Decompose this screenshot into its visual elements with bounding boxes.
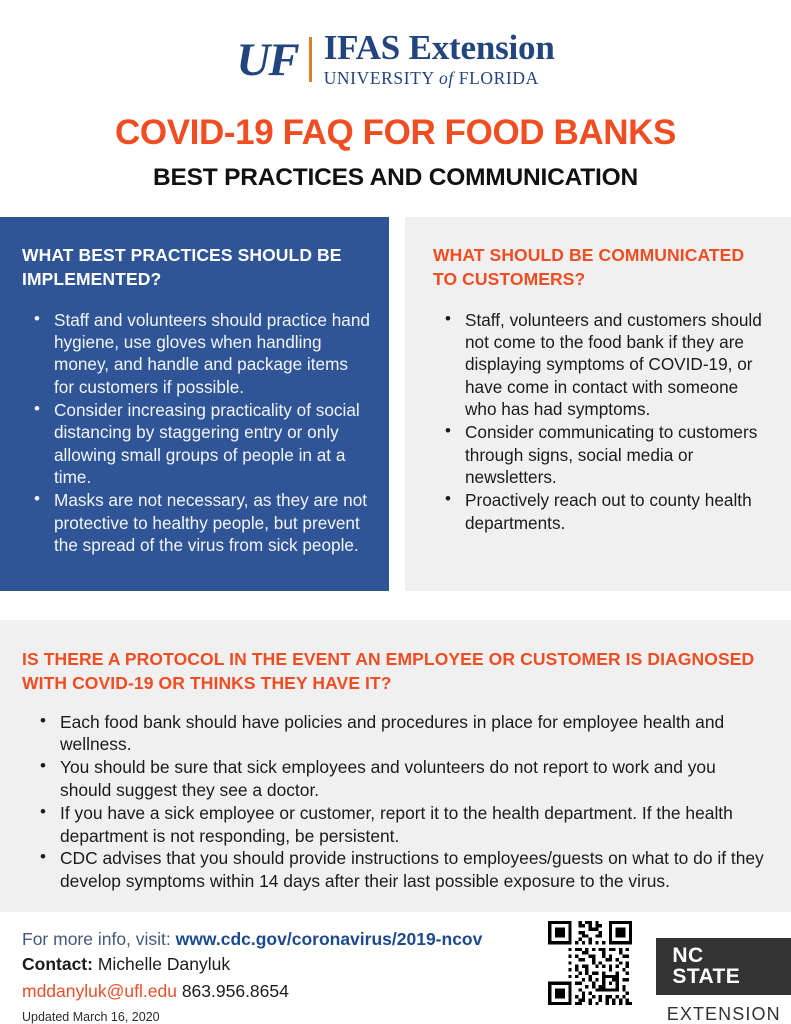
uf-monogram: UF [236, 37, 308, 84]
list-item: Consider increasing practicality of soci… [54, 399, 371, 488]
panel-protocol-list: Each food bank should have policies and … [22, 711, 765, 893]
list-item: Each food bank should have policies and … [60, 711, 765, 757]
footer-more-info-label: For more info, visit: [22, 929, 171, 949]
poster-page: UF IFAS Extension UNIVERSITY of FLORIDA … [0, 0, 791, 1024]
logo-divider-icon [309, 37, 312, 82]
footer-logos-block: NC STATE EXTENSION [548, 920, 791, 1024]
panel-gap [389, 217, 405, 591]
nc-state-extension-logo: NC STATE EXTENSION [656, 938, 791, 1024]
page-subtitle: BEST PRACTICES AND COMMUNICATION [0, 165, 791, 191]
list-item: Staff and volunteers should practice han… [54, 309, 371, 398]
footer-more-info-line: For more info, visit: www.cdc.gov/corona… [22, 928, 542, 950]
panel-communication: WHAT SHOULD BE COMMUNICATED TO CUSTOMERS… [405, 217, 791, 591]
panel-protocol-heading: IS THERE A PROTOCOL IN THE EVENT AN EMPL… [22, 648, 765, 696]
logo-university-of: of [439, 68, 454, 88]
list-item: Consider communicating to customers thro… [465, 421, 773, 488]
panel-best-practices-heading: WHAT BEST PRACTICES SHOULD BE IMPLEMENTE… [22, 244, 371, 292]
cdc-link[interactable]: www.cdc.gov/coronavirus/2019-ncov [176, 929, 483, 949]
logo-wordmark: IFAS Extension UNIVERSITY of FLORIDA [324, 30, 555, 89]
logo-org-name: IFAS Extension [324, 30, 555, 66]
list-item: Masks are not necessary, as they are not… [54, 489, 371, 556]
logo-university-line: UNIVERSITY of FLORIDA [324, 67, 555, 90]
footer-email-phone-line: mddanyluk@ufl.edu 863.956.8654 [22, 979, 542, 1003]
footer-contact-block: For more info, visit: www.cdc.gov/corona… [22, 928, 542, 1024]
qr-code-icon[interactable] [548, 920, 632, 1006]
footer-updated-date: Updated March 16, 2020 [22, 1010, 542, 1024]
list-item: If you have a sick employee or customer,… [60, 802, 765, 848]
header: UF IFAS Extension UNIVERSITY of FLORIDA [0, 0, 791, 89]
list-item: Staff, volunteers and customers should n… [465, 309, 773, 421]
uf-ifas-extension-logo: UF IFAS Extension UNIVERSITY of FLORIDA [236, 30, 554, 89]
footer-contact-name: Michelle Danyluk [98, 954, 230, 974]
footer-contact-line: Contact: Michelle Danyluk [22, 952, 542, 976]
list-item: You should be sure that sick employees a… [60, 756, 765, 802]
nc-state-extension-label: EXTENSION [667, 1004, 781, 1024]
email-link[interactable]: mddanyluk@ufl.edu [22, 981, 177, 1001]
panel-protocol: IS THERE A PROTOCOL IN THE EVENT AN EMPL… [0, 620, 791, 912]
panels-row: WHAT BEST PRACTICES SHOULD BE IMPLEMENTE… [0, 217, 791, 591]
page-title: COVID-19 FAQ FOR FOOD BANKS [0, 115, 791, 152]
logo-university-post: FLORIDA [454, 68, 539, 88]
nc-state-box: NC STATE [656, 938, 791, 995]
panel-best-practices-list: Staff and volunteers should practice han… [22, 309, 371, 557]
panel-best-practices: WHAT BEST PRACTICES SHOULD BE IMPLEMENTE… [0, 217, 389, 591]
logo-university-pre: UNIVERSITY [324, 68, 439, 88]
panel-communication-heading: WHAT SHOULD BE COMMUNICATED TO CUSTOMERS… [433, 244, 773, 292]
footer-phone: 863.956.8654 [182, 981, 289, 1001]
footer-contact-label: Contact: [22, 954, 93, 974]
list-item: CDC advises that you should provide inst… [60, 847, 765, 893]
panel-communication-list: Staff, volunteers and customers should n… [433, 309, 773, 535]
list-item: Proactively reach out to county health d… [465, 489, 773, 534]
